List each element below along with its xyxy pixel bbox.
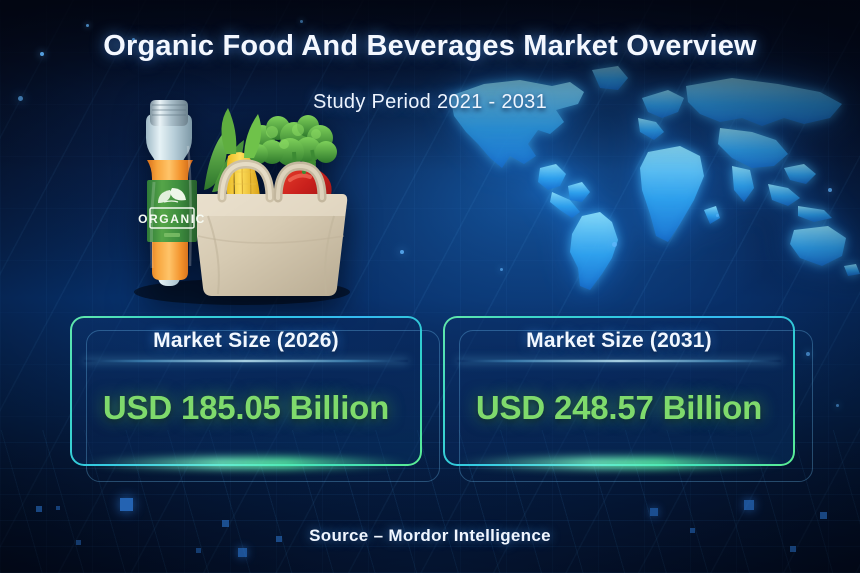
source-attribution: Source – Mordor Intelligence (0, 526, 860, 546)
stat-card-market-size-2026: Market Size (2026) USD 185.05 Billion (70, 316, 422, 466)
card-divider-line (457, 360, 781, 362)
juice-bottle: ORGANIC (138, 100, 206, 286)
page-title: Organic Food And Beverages Market Overvi… (0, 30, 860, 63)
svg-text:ORGANIC: ORGANIC (138, 212, 206, 226)
infographic-canvas: Organic Food And Beverages Market Overvi… (0, 0, 860, 573)
card-value: USD 185.05 Billion (70, 389, 422, 427)
card-bottom-glow (453, 457, 785, 469)
card-label: Market Size (2031) (443, 329, 795, 353)
organic-products-image: ORGANIC (112, 86, 362, 308)
card-bottom-glow (80, 457, 412, 469)
stat-card-market-size-2031: Market Size (2031) USD 248.57 Billion (443, 316, 795, 466)
card-value: USD 248.57 Billion (443, 389, 795, 427)
card-label: Market Size (2026) (70, 329, 422, 353)
card-divider-line (84, 360, 408, 362)
